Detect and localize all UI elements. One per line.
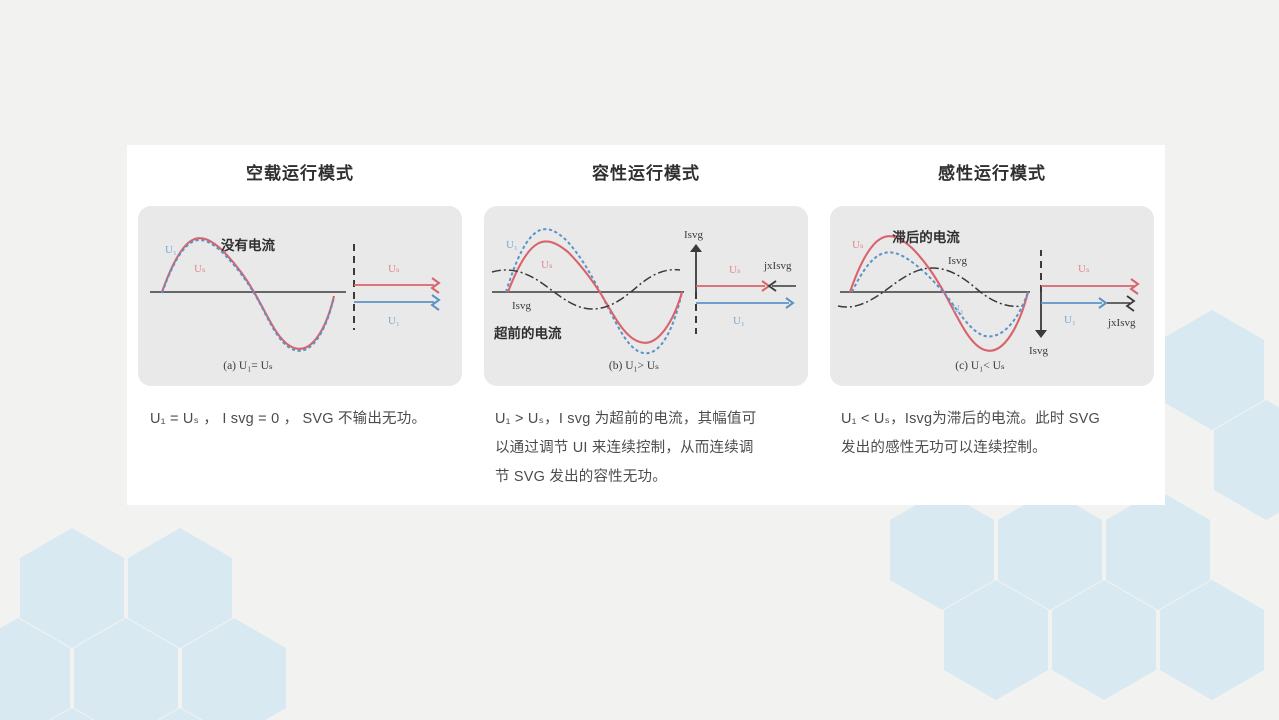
label-wave-isvg: Isvg	[948, 255, 967, 267]
figure-svg-inductive: Uₛ U₁ Isvg 滞后的电流 Isvg	[830, 206, 1154, 386]
caption-inductive-line-1: U₁ < Uₛ，Isvg为滞后的电流。此时 SVG	[841, 405, 1150, 434]
label-phasor-axis-isvg: Isvg	[1029, 345, 1048, 357]
label-phasor-u1: U₁	[388, 315, 400, 327]
label-phasor-us: Uₛ	[1078, 263, 1090, 275]
label-phasor-jxisvg: jxIsvg	[1107, 317, 1136, 329]
label-wave-u1: U₁	[506, 239, 518, 251]
mode-column-capacitive: 容性运行模式 U₁ Uₛ Isvg 超前的电流	[473, 145, 819, 505]
figure-svg-capacitive: U₁ Uₛ Isvg 超前的电流 Isvg jxIsvg	[484, 206, 808, 386]
phasor-axis-arrowhead	[1035, 330, 1047, 338]
mode-column-no-load: 空载运行模式 U₁ Uₛ 没有电流	[127, 145, 473, 505]
figure-svg-no-load: U₁ Uₛ 没有电流 Uₛ U₁ (a) U₁= Uₛ	[138, 206, 462, 386]
caption-capacitive-line-2: 以通过调节 UI 来连续控制，从而连续调	[495, 434, 804, 463]
label-wave-us: Uₛ	[194, 263, 206, 275]
label-phasor-u1: U₁	[733, 315, 745, 327]
label-phasor-axis-isvg: Isvg	[684, 229, 703, 241]
mode-columns: 空载运行模式 U₁ Uₛ 没有电流	[127, 145, 1165, 505]
column-title-no-load: 空载运行模式	[136, 161, 464, 187]
label-wave-isvg: Isvg	[512, 300, 531, 312]
label-wave-us: Uₛ	[541, 259, 553, 271]
caption-inductive-line-2: 发出的感性无功可以连续控制。	[841, 434, 1150, 463]
figure-subcaption: (c) U₁< Uₛ	[955, 360, 1005, 372]
label-phasor-u1: U₁	[1064, 314, 1076, 326]
phasor-axis-arrowhead	[690, 244, 702, 252]
figure-subcaption: (a) U₁= Uₛ	[223, 360, 273, 372]
column-title-inductive: 感性运行模式	[828, 161, 1156, 187]
label-wave-u1: U₁	[952, 303, 964, 315]
label-wave-u1: U₁	[165, 244, 177, 256]
figure-capacitive: U₁ Uₛ Isvg 超前的电流 Isvg jxIsvg	[484, 206, 808, 386]
waveform-u1-blue	[162, 240, 334, 351]
label-phasor-jxisvg: jxIsvg	[763, 260, 792, 272]
figure-subcaption: (b) U₁> Uₛ	[609, 360, 659, 372]
label-phasor-us: Uₛ	[388, 263, 400, 275]
label-lagging-current: 滞后的电流	[892, 229, 960, 245]
waveform-isvg-dark	[838, 268, 1022, 307]
caption-capacitive-line-3: 节 SVG 发出的容性无功。	[495, 463, 804, 492]
label-no-current: 没有电流	[221, 237, 275, 253]
caption-capacitive-line-1: U₁ > Uₛ，I svg 为超前的电流，其幅值可	[495, 405, 804, 434]
waveform-u1-blue	[852, 252, 1028, 336]
figure-no-load: U₁ Uₛ 没有电流 Uₛ U₁ (a) U₁= Uₛ	[138, 206, 462, 386]
label-phasor-us: Uₛ	[729, 264, 741, 276]
label-wave-us: Uₛ	[852, 239, 864, 251]
mode-column-inductive: 感性运行模式 Uₛ U₁ Isvg 滞后的电流	[819, 145, 1165, 505]
content-card: 空载运行模式 U₁ Uₛ 没有电流	[127, 145, 1165, 505]
waveform-us-red	[162, 238, 334, 349]
label-leading-current: 超前的电流	[493, 325, 562, 341]
caption-no-load-line-1: U₁ = Uₛ ， I svg = 0 ， SVG 不输出无功。	[150, 405, 458, 434]
column-title-capacitive: 容性运行模式	[482, 161, 810, 187]
figure-inductive: Uₛ U₁ Isvg 滞后的电流 Isvg	[830, 206, 1154, 386]
